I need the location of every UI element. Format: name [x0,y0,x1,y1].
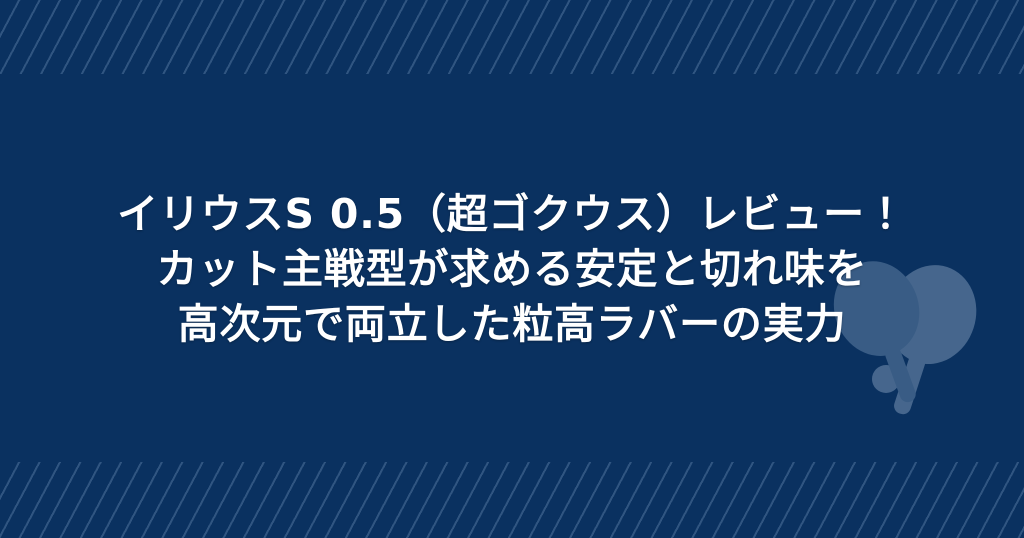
banner-title-line-1: イリウスS 0.5（超ゴクウス）レビュー！ [0,187,1024,242]
banner-title-line-3: 高次元で両立した粒高ラバーの実力 [0,297,1024,352]
ogp-banner: イリウスS 0.5（超ゴクウス）レビュー！ カット主戦型が求める安定と切れ味を … [0,0,1024,538]
banner-title-line-2: カット主戦型が求める安定と切れ味を [0,242,1024,297]
banner-title-block: イリウスS 0.5（超ゴクウス）レビュー！ カット主戦型が求める安定と切れ味を … [0,0,1024,538]
